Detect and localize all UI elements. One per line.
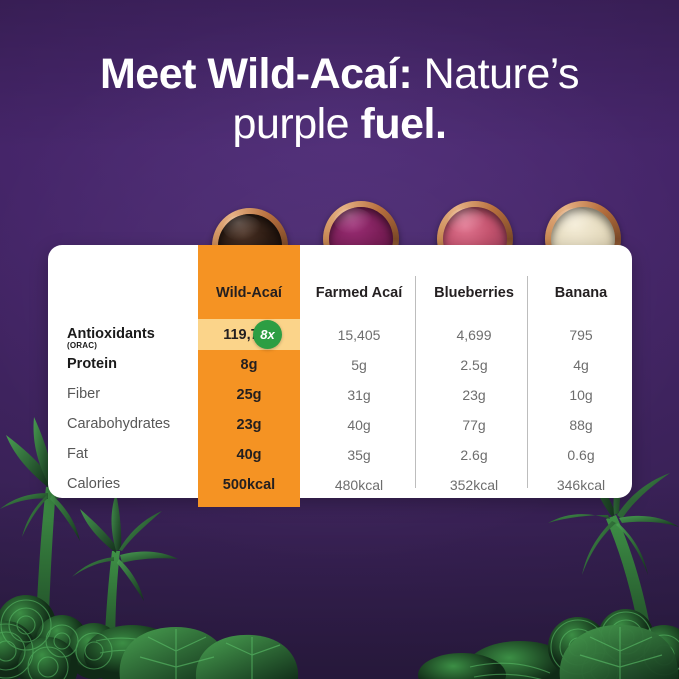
cell-farmed-acai: 5g (303, 357, 415, 373)
cell-wild-acai: 8g (198, 357, 300, 373)
cell-blueberries: 352kcal (418, 477, 530, 493)
column-header-blueberries: Blueberries (418, 285, 530, 301)
multiplier-badge: 8x (253, 320, 282, 349)
table-row: Fat 40g 35g 2.6g 0.6g (48, 446, 632, 475)
cell-banana: 4g (530, 357, 632, 373)
cell-wild-acai: 119,700 (198, 327, 300, 343)
table-header-row: Wild-Acaí Farmed Acaí Blueberries Banana (48, 285, 632, 311)
cell-wild-acai: 23g (198, 417, 300, 433)
row-sublabel-orac: (ORAC) (67, 341, 97, 350)
headline-light-2: purple (233, 100, 361, 148)
cell-banana: 0.6g (530, 447, 632, 463)
cell-wild-acai: 40g (198, 447, 300, 463)
bowl-gloss (334, 208, 374, 234)
row-label-calories: Calories (67, 476, 120, 492)
row-label-fiber: Fiber (67, 386, 100, 402)
cell-banana: 346kcal (530, 477, 632, 493)
cell-farmed-acai: 35g (303, 447, 415, 463)
bowl-gloss (448, 208, 488, 234)
cell-farmed-acai: 15,405 (303, 327, 415, 343)
column-header-farmed-acai: Farmed Acaí (303, 285, 415, 301)
headline-bold-2: fuel. (361, 100, 447, 148)
cell-banana: 10g (530, 387, 632, 403)
cell-banana: 795 (530, 327, 632, 343)
column-header-banana: Banana (530, 285, 632, 301)
nutrition-comparison-table: Wild-Acaí Farmed Acaí Blueberries Banana… (48, 245, 632, 498)
cell-blueberries: 4,699 (418, 327, 530, 343)
table-row: Antioxidants (ORAC) 119,700 15,405 4,699… (48, 326, 632, 355)
bowl-gloss (223, 215, 263, 241)
cell-farmed-acai: 31g (303, 387, 415, 403)
cell-farmed-acai: 40g (303, 417, 415, 433)
cell-blueberries: 2.6g (418, 447, 530, 463)
cell-blueberries: 23g (418, 387, 530, 403)
column-header-wild-acai: Wild-Acaí (198, 285, 300, 301)
table-row: Calories 500kcal 480kcal 352kcal 346kcal (48, 476, 632, 505)
row-label-fat: Fat (67, 446, 88, 462)
headline-bold-1: Meet Wild-Acaí: (100, 50, 412, 98)
cell-wild-acai: 500kcal (198, 477, 300, 493)
row-label-protein: Protein (67, 356, 117, 372)
foliage-bushes (0, 595, 679, 679)
cell-blueberries: 2.5g (418, 357, 530, 373)
page-title: Meet Wild-Acaí: Nature’s purple fuel. (0, 52, 679, 147)
table-row: Fiber 25g 31g 23g 10g (48, 386, 632, 415)
cell-wild-acai: 25g (198, 387, 300, 403)
row-label-antioxidants: Antioxidants (67, 326, 155, 342)
table-row: Protein 8g 5g 2.5g 4g (48, 356, 632, 385)
row-label-carbohydrates: Carabohydrates (67, 416, 170, 432)
bowl-gloss (556, 208, 596, 234)
cell-farmed-acai: 480kcal (303, 477, 415, 493)
headline-light-1: Nature’s (412, 50, 579, 98)
cell-blueberries: 77g (418, 417, 530, 433)
table-row: Carabohydrates 23g 40g 77g 88g (48, 416, 632, 445)
cell-banana: 88g (530, 417, 632, 433)
